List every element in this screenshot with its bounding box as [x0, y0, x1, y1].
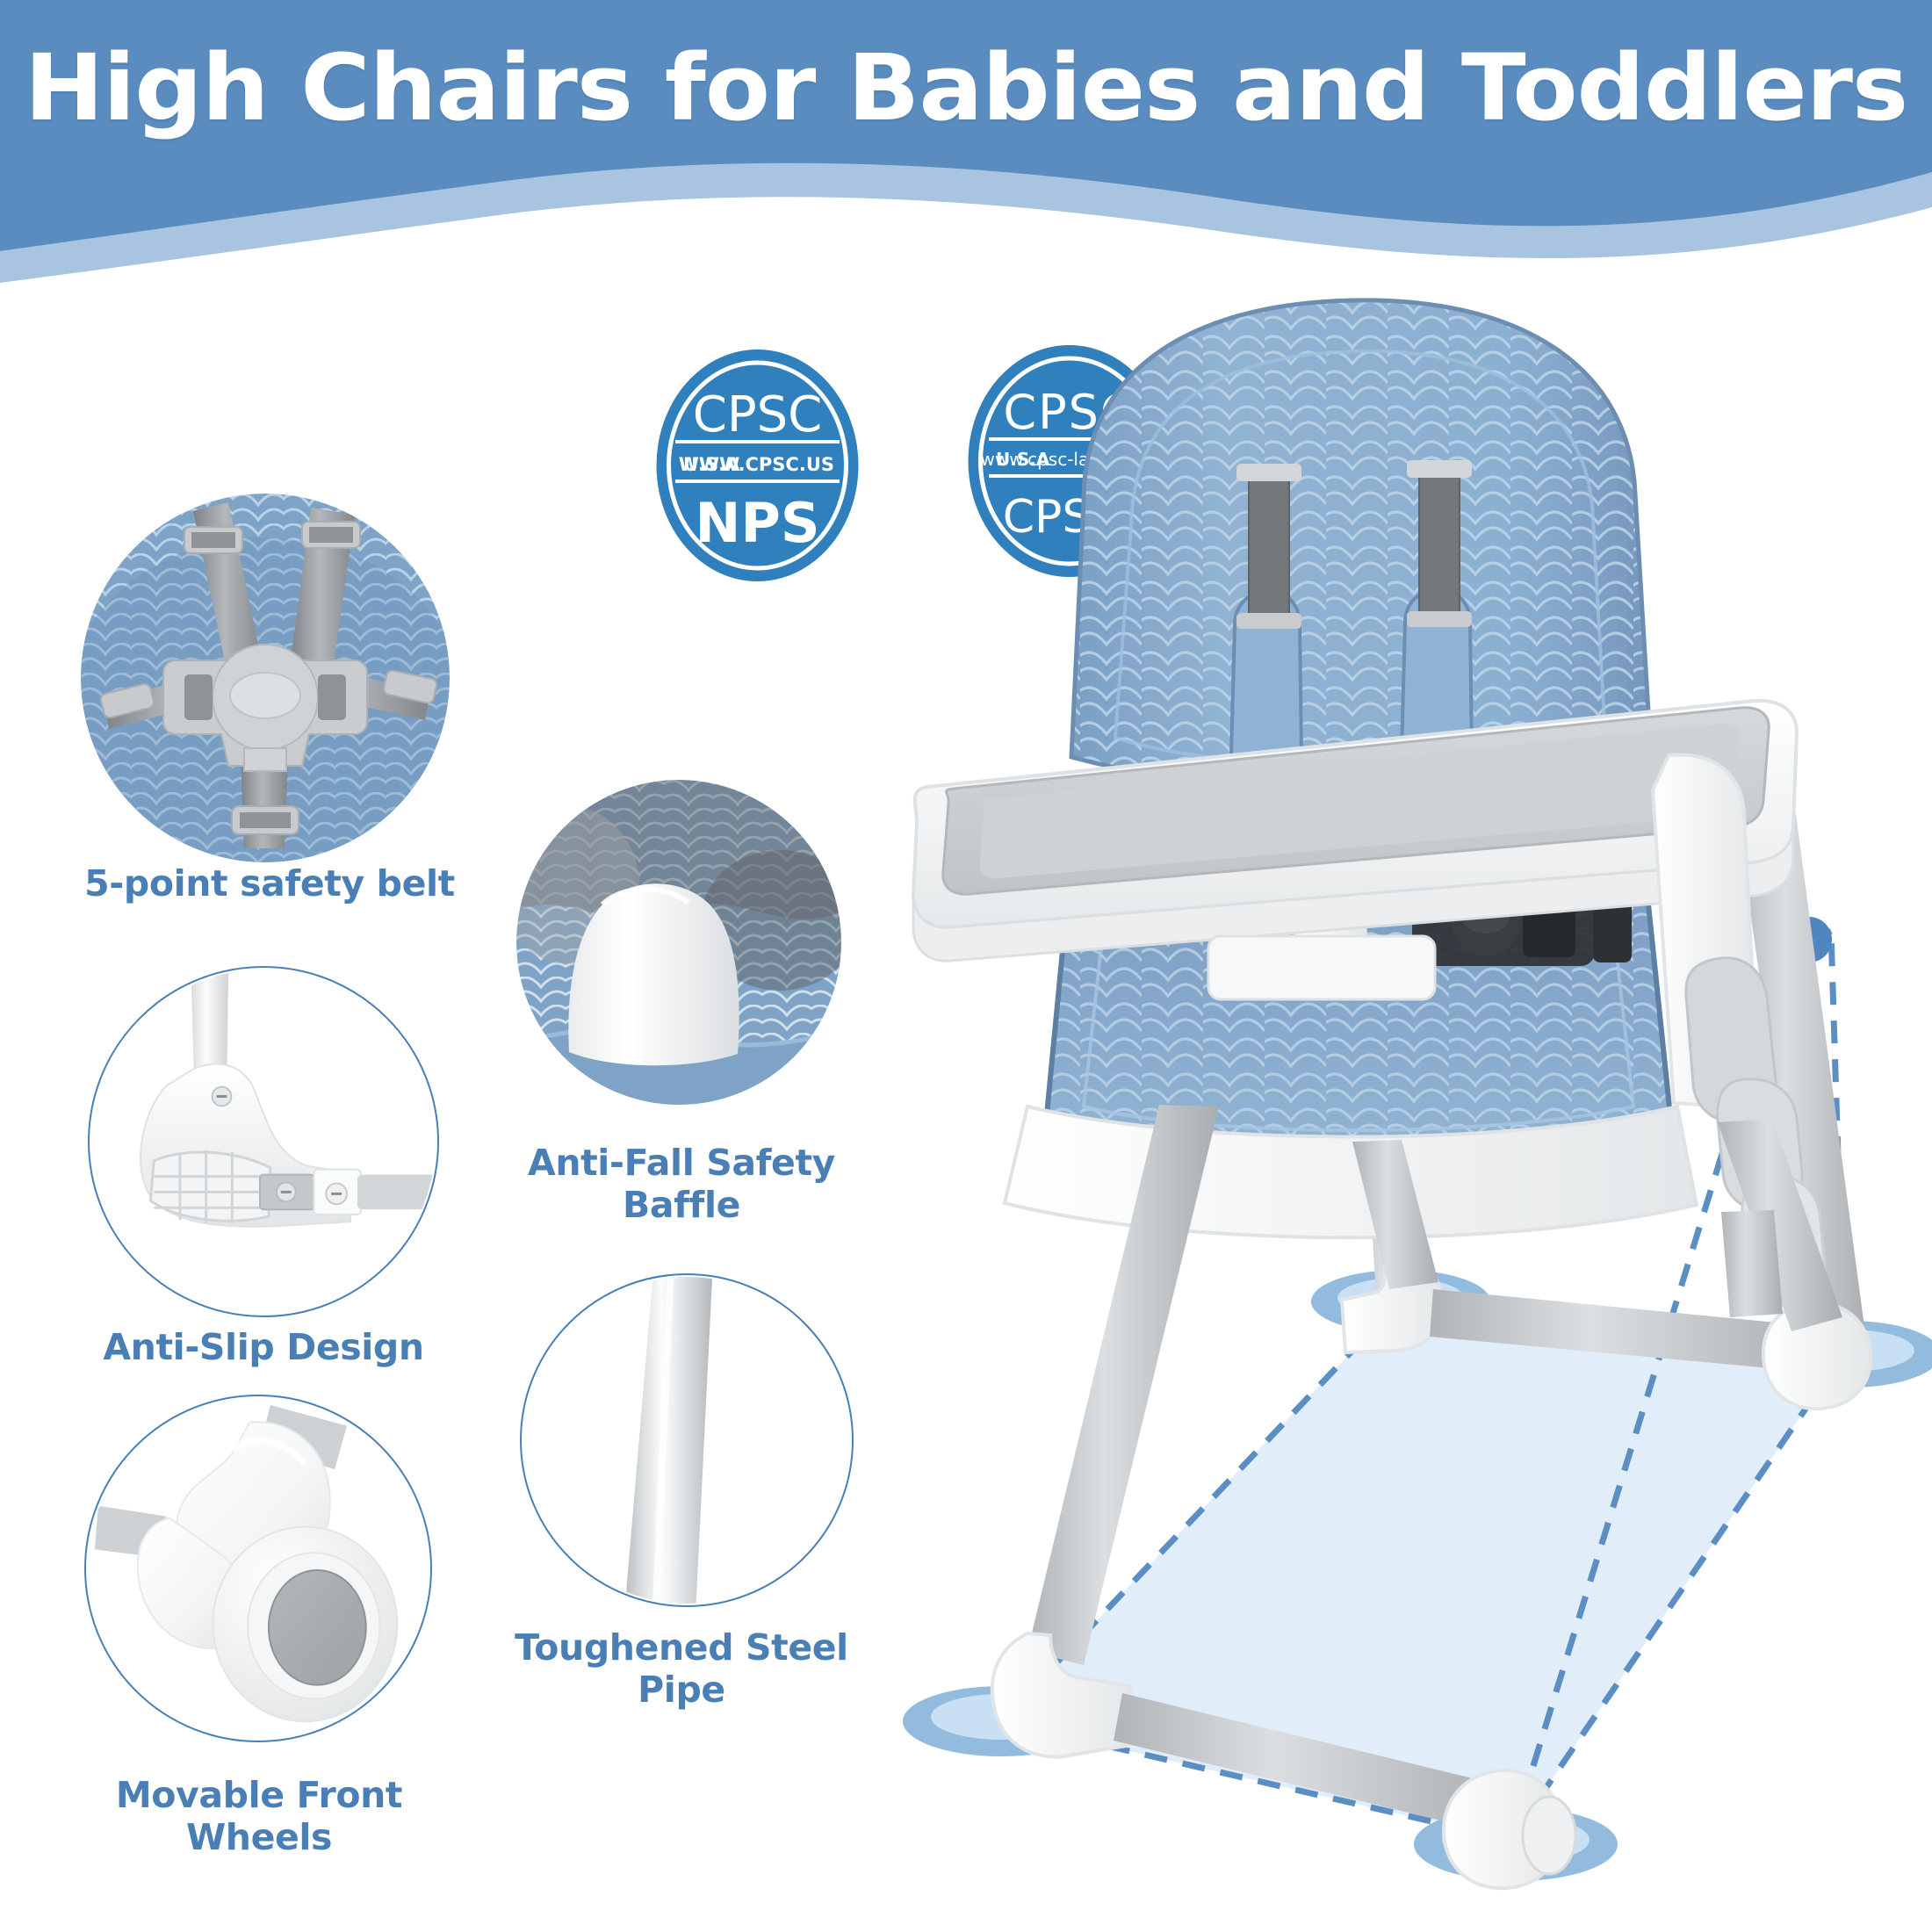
safety-belt-photo: [81, 494, 450, 862]
anti-slip-photo: [88, 966, 439, 1317]
badge-bottom-text: NPS: [696, 491, 820, 555]
feature-label-line2: Wheels: [53, 1816, 465, 1858]
steel-pipe-photo: [520, 1273, 854, 1607]
feature-label-line2: Pipe: [497, 1669, 866, 1711]
feature-label-line1: Toughened Steel: [497, 1626, 866, 1669]
badge-mid-right: WWW.CPSC.US: [679, 454, 834, 475]
feature-label-line1: Movable Front: [53, 1774, 465, 1816]
safety-baffle-photo: [516, 780, 841, 1105]
front-wheels-photo: [84, 1395, 432, 1742]
feature-label-safety-belt: 5-point safety belt: [63, 862, 476, 905]
backrest: [1071, 300, 1651, 790]
page-title: High Chairs for Babies and Toddlers: [0, 40, 1932, 136]
feature-label-safety-baffle: Anti-Fall Safety Baffle: [497, 1142, 866, 1227]
cpsc-nps-badge: CPSC U.S.A WWW.CPSC.US NPS: [654, 347, 861, 584]
feature-label-steel-pipe: Toughened Steel Pipe: [497, 1626, 866, 1712]
product-image-high-chair: [896, 263, 1932, 1932]
badge-top-text: CPSC: [693, 386, 823, 443]
feature-label-front-wheels: Movable Front Wheels: [53, 1774, 465, 1859]
feature-label-anti-slip: Anti-Slip Design: [61, 1326, 465, 1368]
feature-label-line2: Baffle: [497, 1184, 866, 1226]
feature-label-line1: Anti-Fall Safety: [497, 1142, 866, 1184]
